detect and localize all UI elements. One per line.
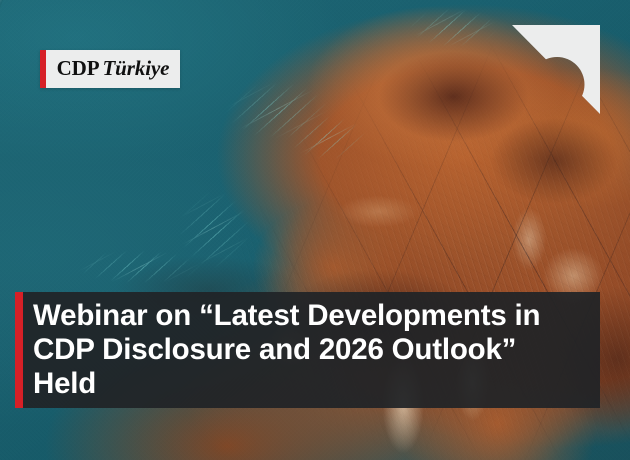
- logo-wordmark-primary: CDP: [57, 56, 100, 80]
- social-card: CDPTürkiye Webinar on “Latest Developmen…: [0, 0, 630, 460]
- page-title-line-2: CDP Disclosure and 2026 Outlook” Held: [33, 333, 516, 400]
- page-title-line-1: Webinar on “Latest Developments in: [33, 299, 540, 332]
- page-title: Webinar on “Latest Developments inCDP Di…: [33, 299, 584, 402]
- cdp-logo-mark-icon[interactable]: [512, 25, 600, 114]
- cdp-turkiye-logo[interactable]: CDPTürkiye: [40, 50, 180, 88]
- logo-wordmark-secondary: Türkiye: [102, 56, 169, 80]
- title-red-accent-bar: [15, 292, 23, 408]
- title-block: Webinar on “Latest Developments inCDP Di…: [15, 292, 600, 408]
- logo-plate: CDPTürkiye: [46, 50, 180, 88]
- logo-wordmark: CDPTürkiye: [57, 58, 170, 79]
- title-panel: Webinar on “Latest Developments inCDP Di…: [23, 292, 600, 408]
